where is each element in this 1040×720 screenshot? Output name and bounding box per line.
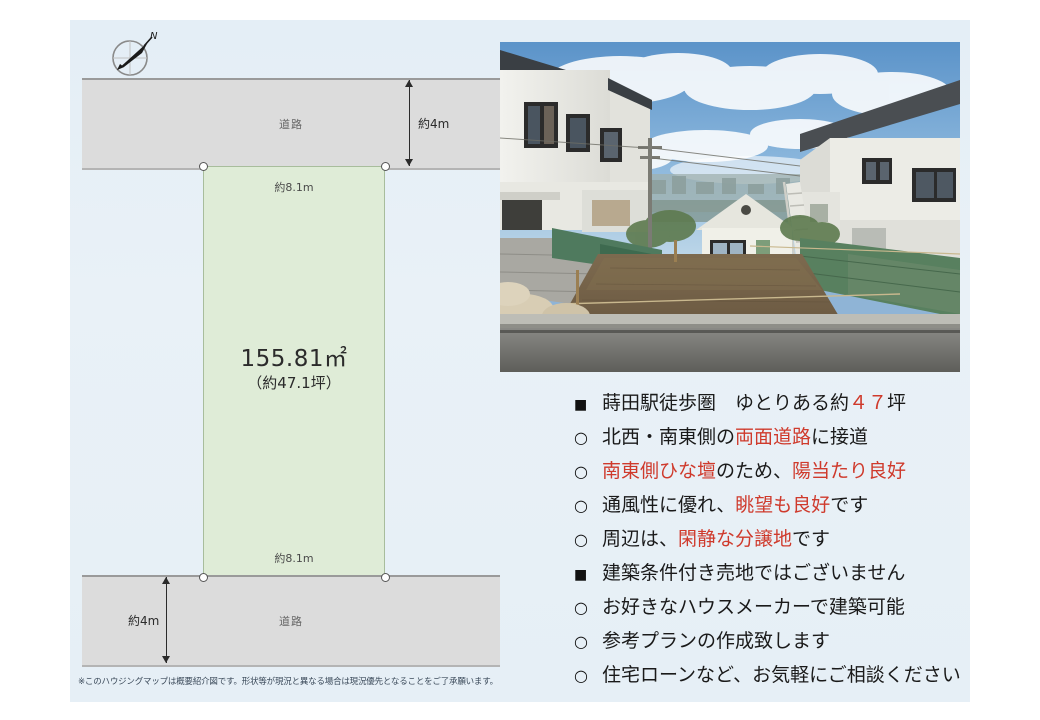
svg-text:N: N: [150, 31, 158, 42]
feature-highlight-text: 眺望も良好: [735, 494, 830, 516]
housing-map-diagram: N 道路 約4m 約8.1m 155.81㎡ （約47.1坪） 約8.1m 道路…: [70, 20, 500, 702]
feature-item: ○南東側ひな壇のため、陽当たり良好: [574, 456, 974, 490]
bullet-circle-icon: ○: [574, 464, 602, 480]
lot-corner-marker: [199, 573, 208, 582]
property-photo: [500, 42, 960, 372]
feature-item-label: 通風性に優れ、眺望も良好です: [602, 490, 868, 517]
lot-corner-marker: [381, 573, 390, 582]
feature-highlight-text: 両面道路: [735, 426, 811, 448]
feature-item: ■蒔田駅徒歩圏 ゆとりある約４７坪: [574, 388, 974, 422]
feature-plain-text: 坪: [887, 392, 906, 414]
road-bottom-depth-dimension-line: [166, 577, 167, 663]
bullet-circle-icon: ○: [574, 668, 602, 684]
feature-item: ○周辺は、閑静な分譲地です: [574, 524, 974, 558]
feature-item: ○住宅ローンなど、お気軽にご相談ください: [574, 660, 974, 694]
map-disclaimer: ※このハウジングマップは概要紹介図です。形状等が現況と異なる場合は現況優先となる…: [78, 675, 498, 687]
bullet-circle-icon: ○: [574, 634, 602, 650]
bullet-square-icon: ■: [574, 398, 602, 412]
lot-width-bottom-label: 約8.1m: [204, 550, 384, 566]
feature-plain-text: お好きなハウスメーカーで建築可能: [602, 596, 905, 618]
feature-item-label: 参考プランの作成致します: [602, 626, 830, 653]
lot-parcel: 約8.1m 155.81㎡ （約47.1坪） 約8.1m: [203, 166, 385, 577]
feature-plain-text: 蒔田駅徒歩圏 ゆとりある約: [602, 392, 849, 414]
lot-area-sqm: 155.81㎡: [204, 339, 384, 373]
feature-list: ■蒔田駅徒歩圏 ゆとりある約４７坪○北西・南東側の両面道路に接道○南東側ひな壇の…: [574, 388, 974, 694]
bullet-circle-icon: ○: [574, 600, 602, 616]
lot-width-top-label: 約8.1m: [204, 179, 384, 195]
road-top-depth-label: 約4m: [418, 115, 449, 132]
feature-plain-text: 建築条件付き売地ではございません: [602, 562, 905, 584]
feature-item: ○お好きなハウスメーカーで建築可能: [574, 592, 974, 626]
feature-item-label: 周辺は、閑静な分譲地です: [602, 524, 830, 551]
bullet-circle-icon: ○: [574, 532, 602, 548]
feature-highlight-text: 南東側ひな壇: [602, 460, 716, 482]
feature-plain-text: 通風性に優れ、: [602, 494, 735, 516]
bullet-circle-icon: ○: [574, 498, 602, 514]
bullet-square-icon: ■: [574, 568, 602, 582]
road-top-depth-dimension-line: [409, 80, 410, 166]
lot-corner-marker: [199, 162, 208, 171]
listing-panel: N 道路 約4m 約8.1m 155.81㎡ （約47.1坪） 約8.1m 道路…: [70, 20, 970, 702]
feature-item-label: 南東側ひな壇のため、陽当たり良好: [602, 456, 906, 483]
feature-highlight-text: 閑静な分譲地: [678, 528, 792, 550]
feature-plain-text: 周辺は、: [602, 528, 678, 550]
feature-plain-text: です: [830, 494, 868, 516]
feature-plain-text: 北西・南東側の: [602, 426, 735, 448]
feature-item-label: お好きなハウスメーカーで建築可能: [602, 592, 905, 619]
compass-icon: N: [108, 28, 164, 80]
feature-plain-text: に接道: [811, 426, 868, 448]
feature-item: ■建築条件付き売地ではございません: [574, 558, 974, 592]
feature-plain-text: のため、: [716, 460, 792, 482]
feature-highlight-text: 陽当たり良好: [792, 460, 906, 482]
bullet-circle-icon: ○: [574, 430, 602, 446]
feature-item: ○通風性に優れ、眺望も良好です: [574, 490, 974, 524]
feature-item: ○参考プランの作成致します: [574, 626, 974, 660]
lot-area-tsubo: （約47.1坪）: [204, 372, 384, 393]
feature-item-label: 建築条件付き売地ではございません: [602, 558, 905, 585]
feature-plain-text: 参考プランの作成致します: [602, 630, 830, 652]
feature-item-label: 北西・南東側の両面道路に接道: [602, 422, 868, 449]
lot-corner-marker: [381, 162, 390, 171]
feature-item: ○北西・南東側の両面道路に接道: [574, 422, 974, 456]
right-column: ■蒔田駅徒歩圏 ゆとりある約４７坪○北西・南東側の両面道路に接道○南東側ひな壇の…: [500, 20, 970, 702]
feature-item-label: 住宅ローンなど、お気軽にご相談ください: [602, 660, 961, 687]
feature-highlight-text: ４７: [849, 392, 887, 414]
feature-plain-text: 住宅ローンなど、お気軽にご相談ください: [602, 664, 961, 686]
feature-item-label: 蒔田駅徒歩圏 ゆとりある約４７坪: [602, 388, 906, 415]
road-bottom-depth-label: 約4m: [128, 612, 159, 629]
feature-plain-text: です: [792, 528, 830, 550]
